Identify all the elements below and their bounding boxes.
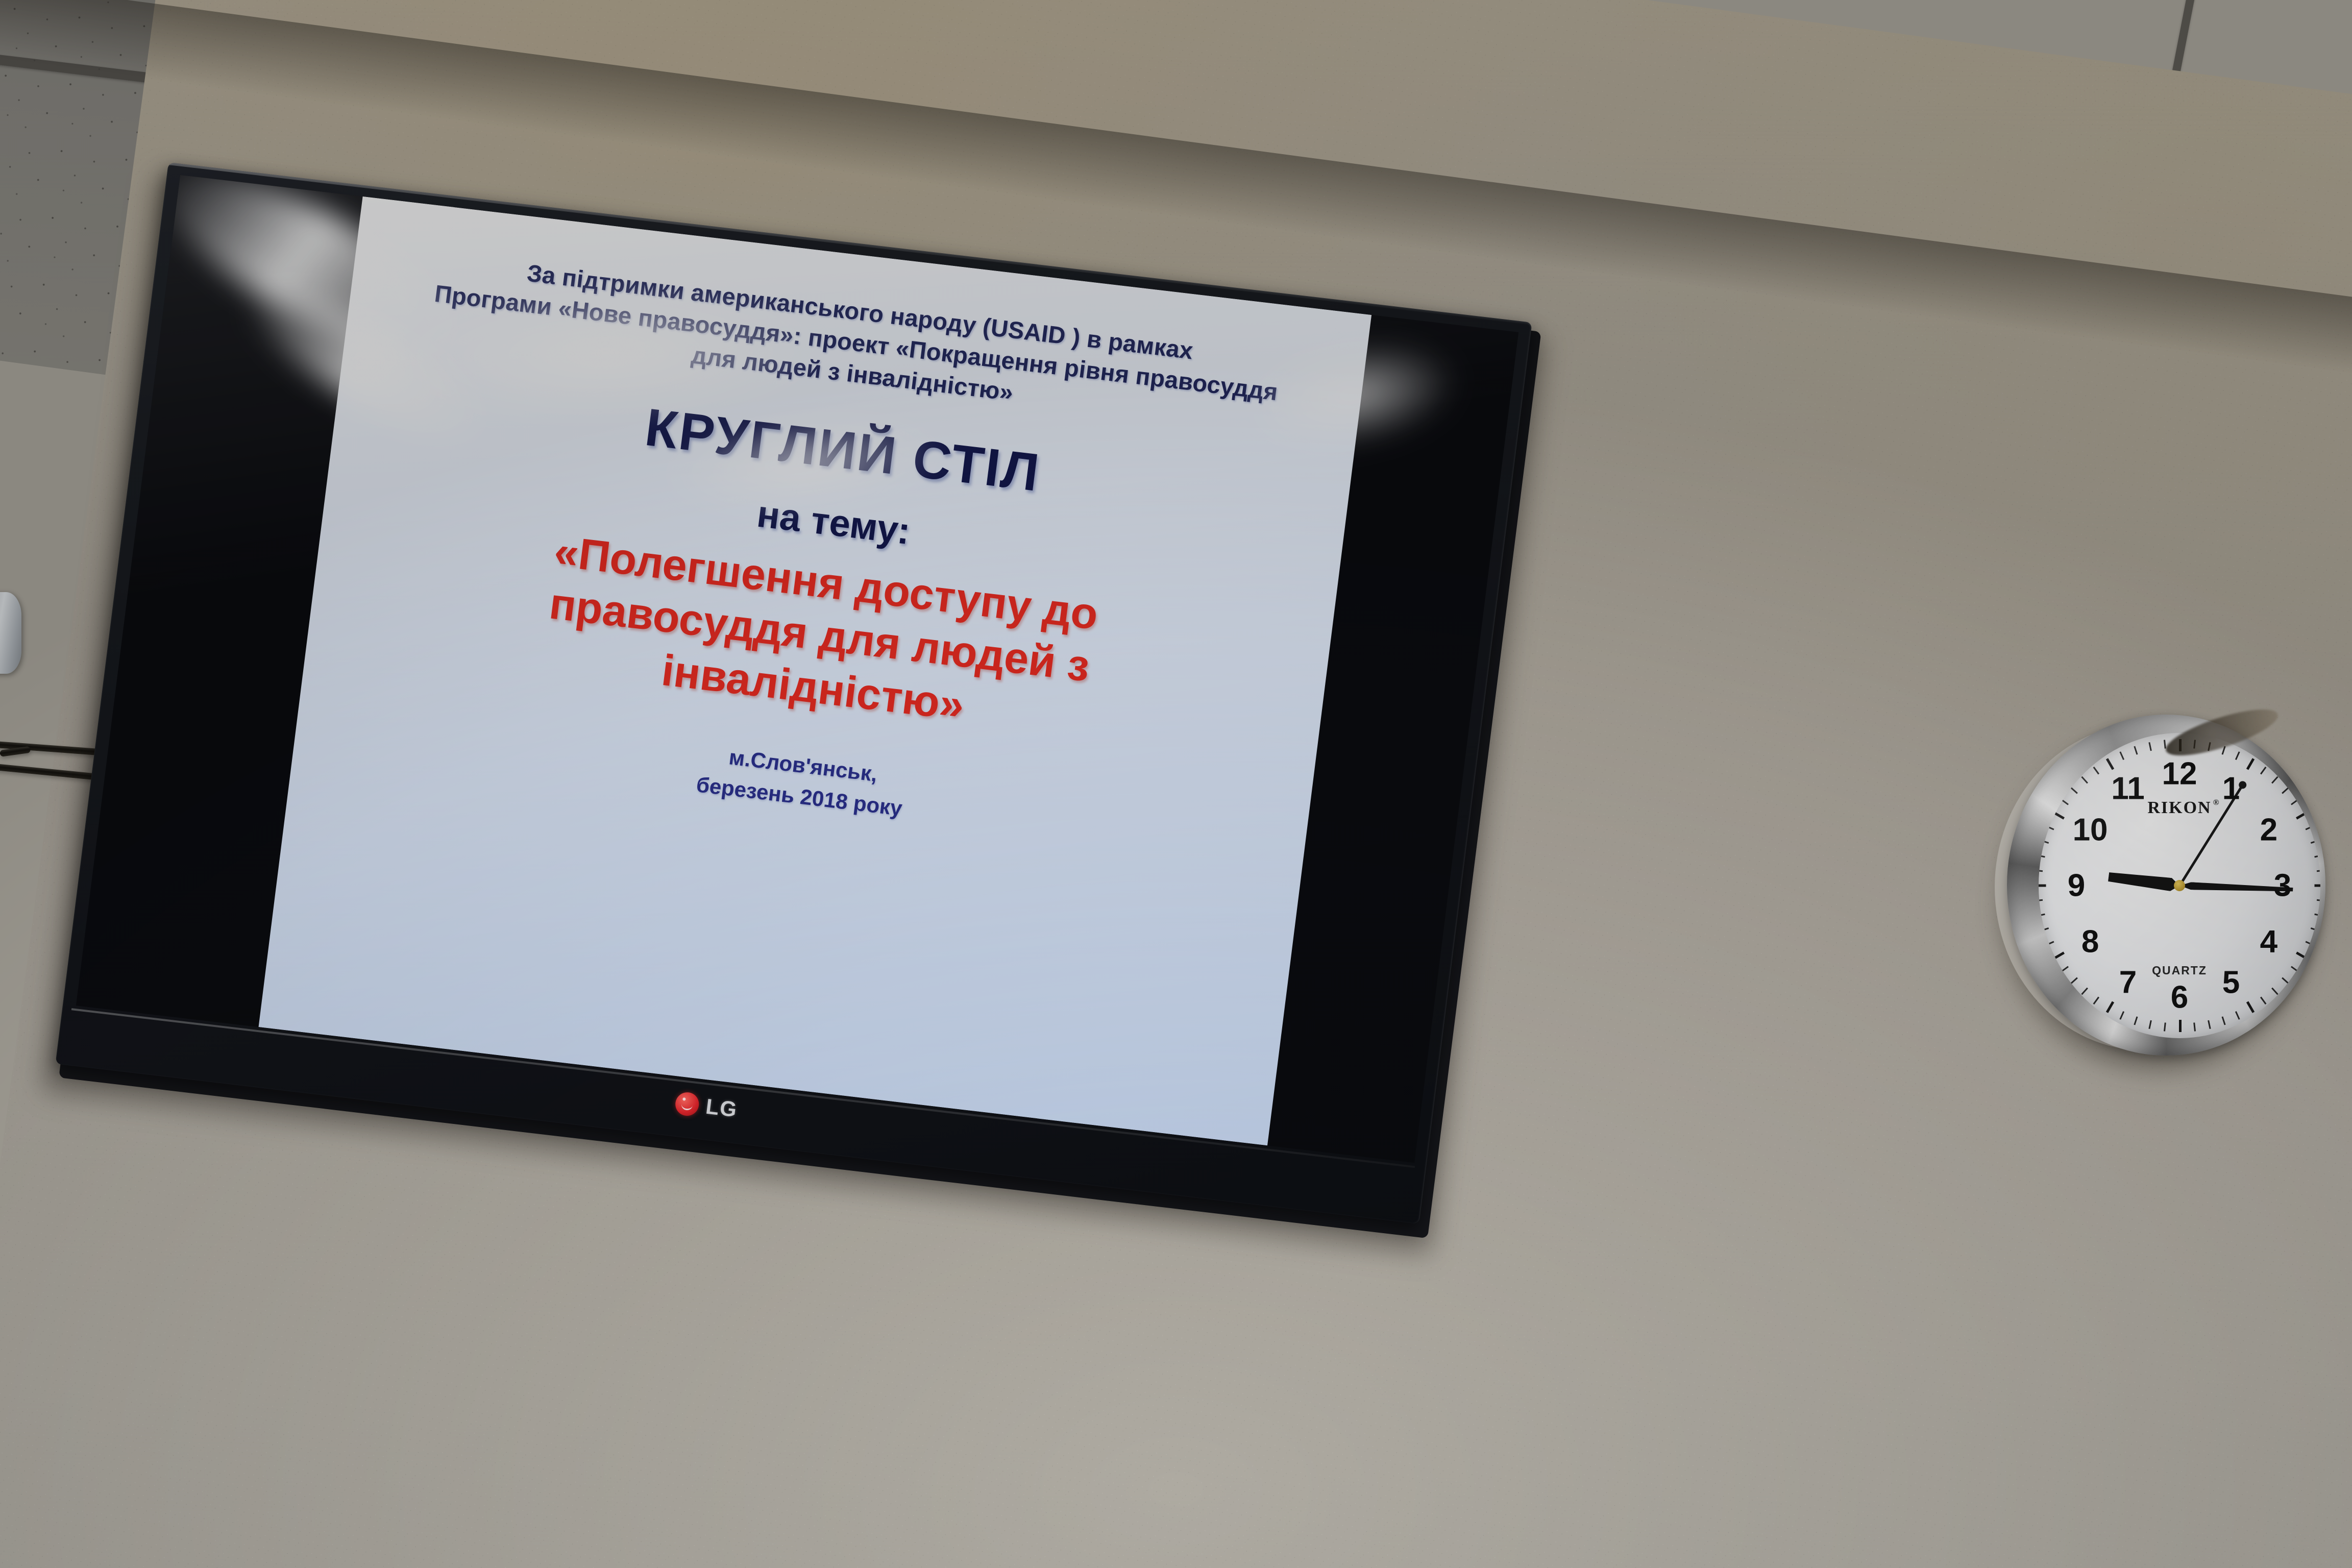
clock-numeral: 5	[2222, 964, 2240, 1000]
clock-tick-minor	[2148, 742, 2151, 751]
clock-numeral: 10	[2073, 812, 2108, 848]
clock-tick-minor	[2040, 840, 2049, 844]
clock-tick-minor	[2119, 1011, 2124, 1020]
clock-numeral: 6	[2171, 979, 2188, 1016]
clock-tick-major	[2246, 758, 2254, 770]
clock-tick-minor	[2305, 941, 2314, 946]
clock-tick-minor	[2039, 870, 2043, 872]
clock-movement-label: QUARTZ	[2152, 964, 2207, 977]
clock-tick-minor	[2310, 840, 2319, 844]
clock-tick-minor	[2148, 1020, 2151, 1029]
clock-tick-minor	[2093, 997, 2099, 1005]
clock-tick-minor	[2039, 899, 2043, 902]
clock-tick-minor	[2070, 977, 2078, 985]
clock-brand-text: RIKON	[2147, 798, 2211, 817]
clock-tick-minor	[2221, 1016, 2225, 1025]
clock-tick-minor	[2045, 825, 2054, 830]
clock-tick-minor	[2039, 914, 2045, 917]
clock-tick-minor	[2134, 746, 2138, 755]
clock-tick-minor	[2208, 1020, 2211, 1029]
clock-tick-minor	[2134, 1016, 2138, 1025]
clock-tick-minor	[2045, 941, 2054, 946]
clock-tick-major	[2296, 951, 2308, 960]
clock-tick-major	[2039, 885, 2046, 887]
clock-numeral: 3	[2274, 868, 2291, 904]
clock-numeral: 1	[2222, 771, 2240, 807]
clock-tick-minor	[2310, 927, 2319, 932]
clock-numeral: 4	[2260, 923, 2277, 960]
clock-tick-minor	[2119, 751, 2124, 760]
clock-tick-major	[2296, 811, 2308, 819]
clock-face: RIKON® QUARTZ 121234567891011	[2039, 733, 2320, 1038]
lg-brand-label: LG	[704, 1094, 739, 1122]
clock-tick-minor	[2061, 966, 2069, 972]
clock-tick-minor	[2314, 914, 2320, 917]
clock-tick-minor	[2081, 988, 2088, 995]
lg-brand-logo: LG	[674, 1091, 739, 1122]
clock-tick-major	[2052, 951, 2064, 960]
clock-tick-minor	[2193, 1022, 2196, 1031]
presentation-slide: За підтримки американського народу (USAI…	[259, 197, 1372, 1145]
lg-television[interactable]: За підтримки американського народу (USAI…	[55, 162, 1532, 1229]
clock-tick-minor	[2061, 799, 2069, 805]
clock-tick-minor	[2271, 776, 2278, 784]
lg-circle-logo-icon	[674, 1091, 700, 1117]
clock-tick-minor	[2291, 799, 2299, 805]
clock-numeral: 7	[2119, 964, 2137, 1000]
clock-tick-major	[2246, 1001, 2254, 1013]
clock-tick-minor	[2081, 776, 2088, 784]
clock-numeral: 2	[2260, 812, 2277, 848]
clock-tick-minor	[2235, 1011, 2240, 1020]
clock-tick-major	[2314, 885, 2320, 887]
clock-tick-minor	[2260, 997, 2266, 1005]
clock-tick-minor	[2282, 787, 2289, 794]
clock-numeral: 11	[2111, 771, 2145, 807]
clock-numeral: 8	[2081, 923, 2099, 960]
room-scene: За підтримки американського народу (USAI…	[0, 0, 2352, 1568]
clock-tick-minor	[2282, 977, 2289, 985]
clock-tick-minor	[2260, 767, 2266, 775]
clock-hour-hand	[2108, 870, 2180, 892]
registered-icon: ®	[2213, 798, 2220, 807]
clock-tick-minor	[2093, 767, 2099, 775]
clock-tick-minor	[2039, 854, 2045, 857]
wall-fixture	[0, 592, 21, 674]
clock-center-cap	[2174, 880, 2185, 891]
wall-clock: RIKON® QUARTZ 121234567891011	[1995, 715, 2325, 1072]
clock-numeral: 9	[2068, 868, 2085, 904]
clock-brand-label: RIKON®	[2147, 798, 2211, 818]
clock-tick-minor	[2164, 1022, 2166, 1031]
clock-tick-major	[2052, 811, 2064, 819]
clock-tick-minor	[2291, 966, 2299, 972]
tv-bezel: За підтримки американського народу (USAI…	[55, 162, 1532, 1224]
clock-tick-minor	[2314, 854, 2320, 857]
tv-screen[interactable]: За підтримки американського народу (USAI…	[76, 175, 1518, 1163]
clock-numeral: 12	[2162, 756, 2197, 792]
clock-chrome-rim: RIKON® QUARTZ 121234567891011	[2007, 715, 2325, 1056]
clock-tick-minor	[2235, 751, 2240, 760]
clock-tick-major	[2105, 1001, 2114, 1013]
clock-tick-minor	[2305, 825, 2314, 830]
clock-tick-major	[2179, 1020, 2182, 1032]
clock-tick-minor	[2316, 899, 2320, 902]
clock-tick-minor	[2271, 988, 2278, 995]
clock-tick-minor	[2070, 787, 2078, 794]
clock-tick-major	[2105, 758, 2114, 770]
clock-tick-minor	[2316, 870, 2320, 872]
clock-tick-minor	[2040, 927, 2049, 932]
